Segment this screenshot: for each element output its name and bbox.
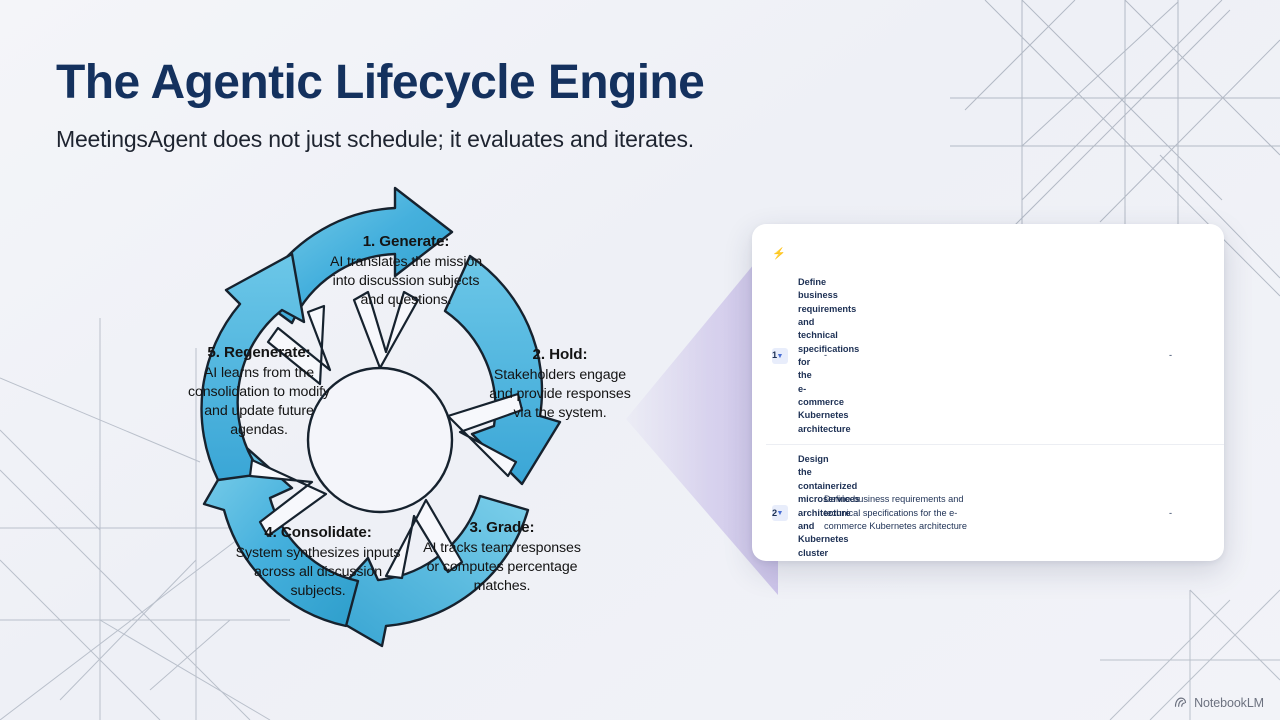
table-row[interactable]: ▼ 1 Define business requirements and tec… [766, 268, 1224, 445]
step-desc-grade: AI tracks team responses or computes per… [418, 539, 586, 596]
table-row[interactable]: ▼ 2 Design the containerized microservic… [766, 445, 1224, 561]
step-desc-regenerate: AI learns from the consolidation to modi… [176, 364, 342, 440]
step-desc-consolidate: System synthesizes inputs across all dis… [228, 544, 408, 601]
step-label-consolidate: 4. Consolidate: System synthesizes input… [228, 523, 408, 601]
notebooklm-watermark: NotebookLM [1173, 695, 1264, 710]
task-table-body: ▼ 1 Define business requirements and tec… [766, 268, 1224, 561]
step-desc-hold: Stakeholders engage and provide response… [486, 366, 634, 423]
watermark-label: NotebookLM [1194, 696, 1264, 710]
page-subtitle: MeetingsAgent does not just schedule; it… [56, 126, 896, 153]
task-table-card: ⚡ # DESCRIPTION PREDECESSOR PARENT ▼ 1 D… [752, 224, 1224, 561]
slide-canvas: The Agentic Lifecycle Engine MeetingsAge… [0, 0, 1280, 720]
step-label-hold: 2. Hold: Stakeholders engage and provide… [486, 345, 634, 423]
step-label-grade: 3. Grade: AI tracks team responses or co… [418, 518, 586, 596]
step-title-consolidate: 4. Consolidate: [228, 523, 408, 543]
cell-description: Define business requirements and technic… [792, 268, 818, 445]
lightning-bolt-icon: ⚡ [772, 249, 787, 260]
step-title-grade: 3. Grade: [418, 518, 586, 538]
column-header-description[interactable]: DESCRIPTION [818, 240, 1003, 268]
task-table: ⚡ # DESCRIPTION PREDECESSOR PARENT ▼ 1 D… [766, 240, 1224, 561]
cell-parent: - [1003, 268, 1178, 445]
step-title-regenerate: 5. Regenerate: [176, 343, 342, 363]
cell-description: Design the containerized microservices a… [792, 445, 818, 561]
table-header-row: ⚡ # DESCRIPTION PREDECESSOR PARENT [766, 240, 1224, 268]
step-title-hold: 2. Hold: [486, 345, 634, 365]
step-desc-generate: AI translates the mission into discussio… [322, 253, 490, 310]
notebooklm-icon [1173, 695, 1188, 710]
step-label-generate: 1. Generate: AI translates the mission i… [322, 232, 490, 310]
column-header-bolt: ⚡ [766, 240, 792, 268]
page-title: The Agentic Lifecycle Engine [56, 56, 896, 110]
column-header-number[interactable]: # [792, 240, 818, 268]
column-header-parent[interactable]: PARENT [1178, 240, 1224, 268]
title-block: The Agentic Lifecycle Engine MeetingsAge… [56, 56, 896, 153]
column-header-predecessor[interactable]: PREDECESSOR [1003, 240, 1178, 268]
step-title-generate: 1. Generate: [322, 232, 490, 252]
cell-number: 2 [766, 445, 792, 561]
step-label-regenerate: 5. Regenerate: AI learns from the consol… [176, 343, 342, 440]
cell-parent: - [1003, 445, 1178, 561]
lifecycle-diagram: 1. Generate: AI translates the mission i… [140, 180, 670, 700]
